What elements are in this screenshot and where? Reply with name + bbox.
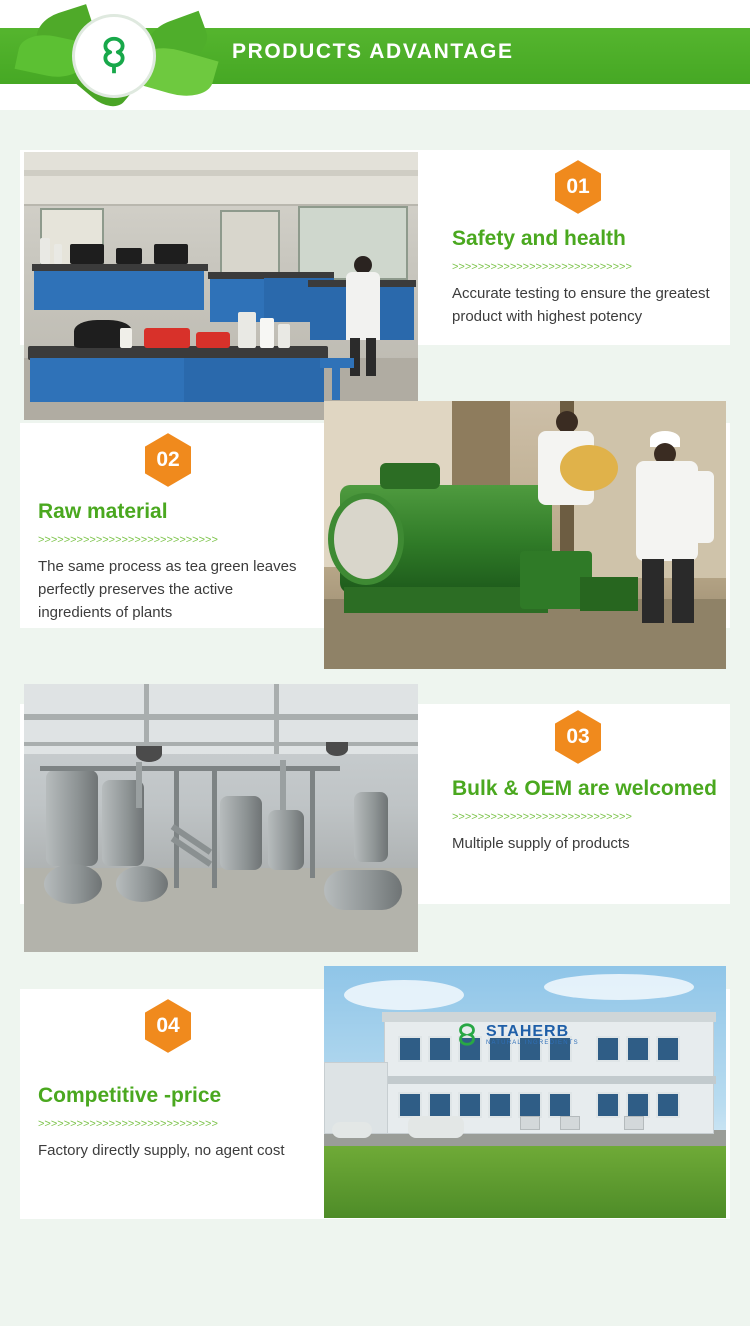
laboratory-photo	[24, 152, 418, 420]
staherb-leaf-icon	[454, 1022, 480, 1048]
card-body-3: Multiple supply of products	[452, 832, 724, 855]
advantage-text-4: 04 Competitive -price >>>>>>>>>>>>>>>>>>…	[38, 997, 310, 1162]
advantage-text-3: 03 Bulk & OEM are welcomed >>>>>>>>>>>>>…	[452, 708, 724, 855]
card-body-2: The same process as tea green leaves per…	[38, 555, 310, 624]
card-heading-4: Competitive -price	[38, 1083, 310, 1109]
chevron-divider-1: >>>>>>>>>>>>>>>>>>>>>>>>>>>>	[452, 261, 724, 273]
card-body-4: Factory directly supply, no agent cost	[38, 1139, 310, 1162]
page-title: PRODUCTS ADVANTAGE	[232, 40, 514, 64]
advantage-text-2: 02 Raw material >>>>>>>>>>>>>>>>>>>>>>>>…	[38, 431, 310, 624]
step-number-3: 03	[566, 725, 589, 749]
step-badge-1: 01	[552, 158, 604, 216]
card-body-1: Accurate testing to ensure the greatest …	[452, 282, 724, 328]
logo-circle	[72, 14, 156, 98]
card-heading-2: Raw material	[38, 499, 310, 525]
step-number-1: 01	[566, 175, 589, 199]
products-advantage-page: PRODUCTS ADVANTAGE	[0, 0, 750, 1326]
raw-material-processing-photo	[324, 401, 726, 669]
building-tagline: NATURAL INGREDIENTS	[486, 1040, 579, 1046]
advantage-row-1: 01 Safety and health >>>>>>>>>>>>>>>>>>>…	[0, 110, 750, 393]
step-badge-4: 04	[142, 997, 194, 1055]
chevron-divider-3: >>>>>>>>>>>>>>>>>>>>>>>>>>>>	[452, 811, 724, 823]
advantage-row-3: 03 Bulk & OEM are welcomed >>>>>>>>>>>>>…	[0, 676, 750, 959]
building-brand: STAHERB	[486, 1024, 579, 1040]
advantage-text-1: 01 Safety and health >>>>>>>>>>>>>>>>>>>…	[452, 158, 724, 328]
building-sign: STAHERB NATURAL INGREDIENTS	[454, 1022, 579, 1048]
logo-trefoil-icon	[91, 33, 137, 79]
advantage-row-2: 02 Raw material >>>>>>>>>>>>>>>>>>>>>>>>…	[0, 393, 750, 676]
chevron-divider-2: >>>>>>>>>>>>>>>>>>>>>>>>>>>>	[38, 534, 310, 546]
factory-hall-photo	[24, 684, 418, 952]
step-number-4: 04	[156, 1014, 179, 1038]
step-badge-2: 02	[142, 431, 194, 489]
step-badge-3: 03	[552, 708, 604, 766]
card-heading-1: Safety and health	[452, 226, 724, 252]
leaf-logo-icon	[18, 6, 228, 106]
chevron-divider-4: >>>>>>>>>>>>>>>>>>>>>>>>>>>>	[38, 1118, 310, 1130]
card-heading-3: Bulk & OEM are welcomed	[452, 776, 724, 802]
company-building-photo: STAHERB NATURAL INGREDIENTS	[324, 966, 726, 1218]
page-header: PRODUCTS ADVANTAGE	[0, 0, 750, 110]
advantage-row-4: STAHERB NATURAL INGREDIENTS 04 Competiti…	[0, 959, 750, 1259]
step-number-2: 02	[156, 448, 179, 472]
